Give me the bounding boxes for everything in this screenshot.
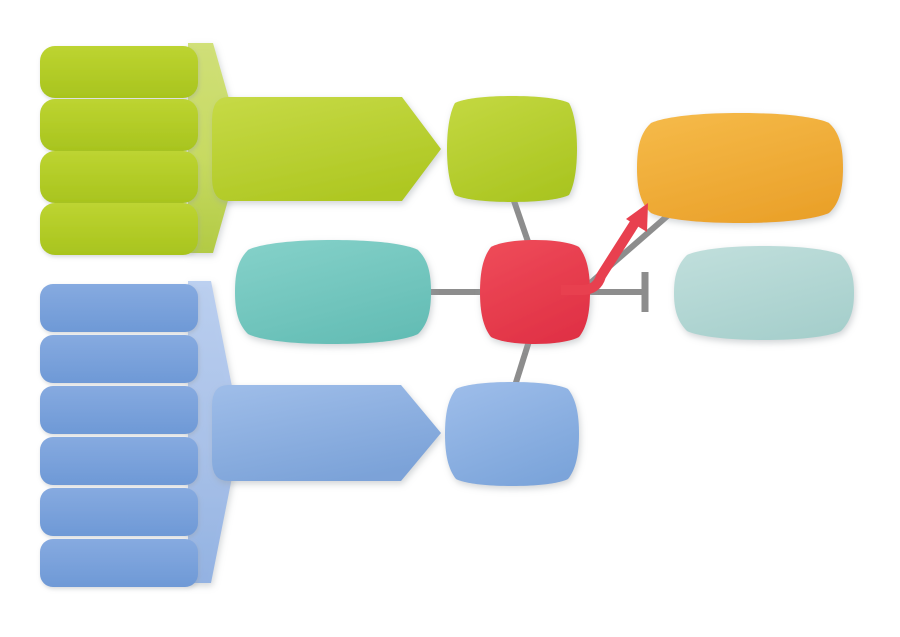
node-career-planning-activity[interactable] <box>235 240 431 344</box>
node-attributes-to-help[interactable] <box>212 385 441 481</box>
node-commitment-to-ongoing-learning[interactable] <box>40 284 198 332</box>
diagram-canvas: Curiosity Persistence Flexibility Optimi… <box>0 0 900 637</box>
node-longer-term-original-career-goal[interactable] <box>674 246 854 340</box>
node-feedback-from-others[interactable] <box>40 386 198 434</box>
node-optimism[interactable] <box>40 203 198 255</box>
node-effective-networking[interactable] <box>40 437 198 485</box>
node-finanical-planning-for-unemployment[interactable] <box>40 539 198 587</box>
node-work-life-balance[interactable] <box>40 488 198 536</box>
node-qualities-to-help[interactable] <box>212 97 441 201</box>
node-flexibility[interactable] <box>40 151 198 203</box>
node-curiosity[interactable] <box>40 46 198 98</box>
node-persistence[interactable] <box>40 99 198 151</box>
node-ongoing-self-assessment[interactable] <box>40 335 198 383</box>
node-able-to-take-recognised-opportunity[interactable] <box>445 382 579 486</box>
node-chance-opportunity[interactable] <box>480 240 590 344</box>
node-opportunity-found-recognised[interactable] <box>447 96 577 202</box>
node-new-career-path[interactable] <box>637 113 843 223</box>
